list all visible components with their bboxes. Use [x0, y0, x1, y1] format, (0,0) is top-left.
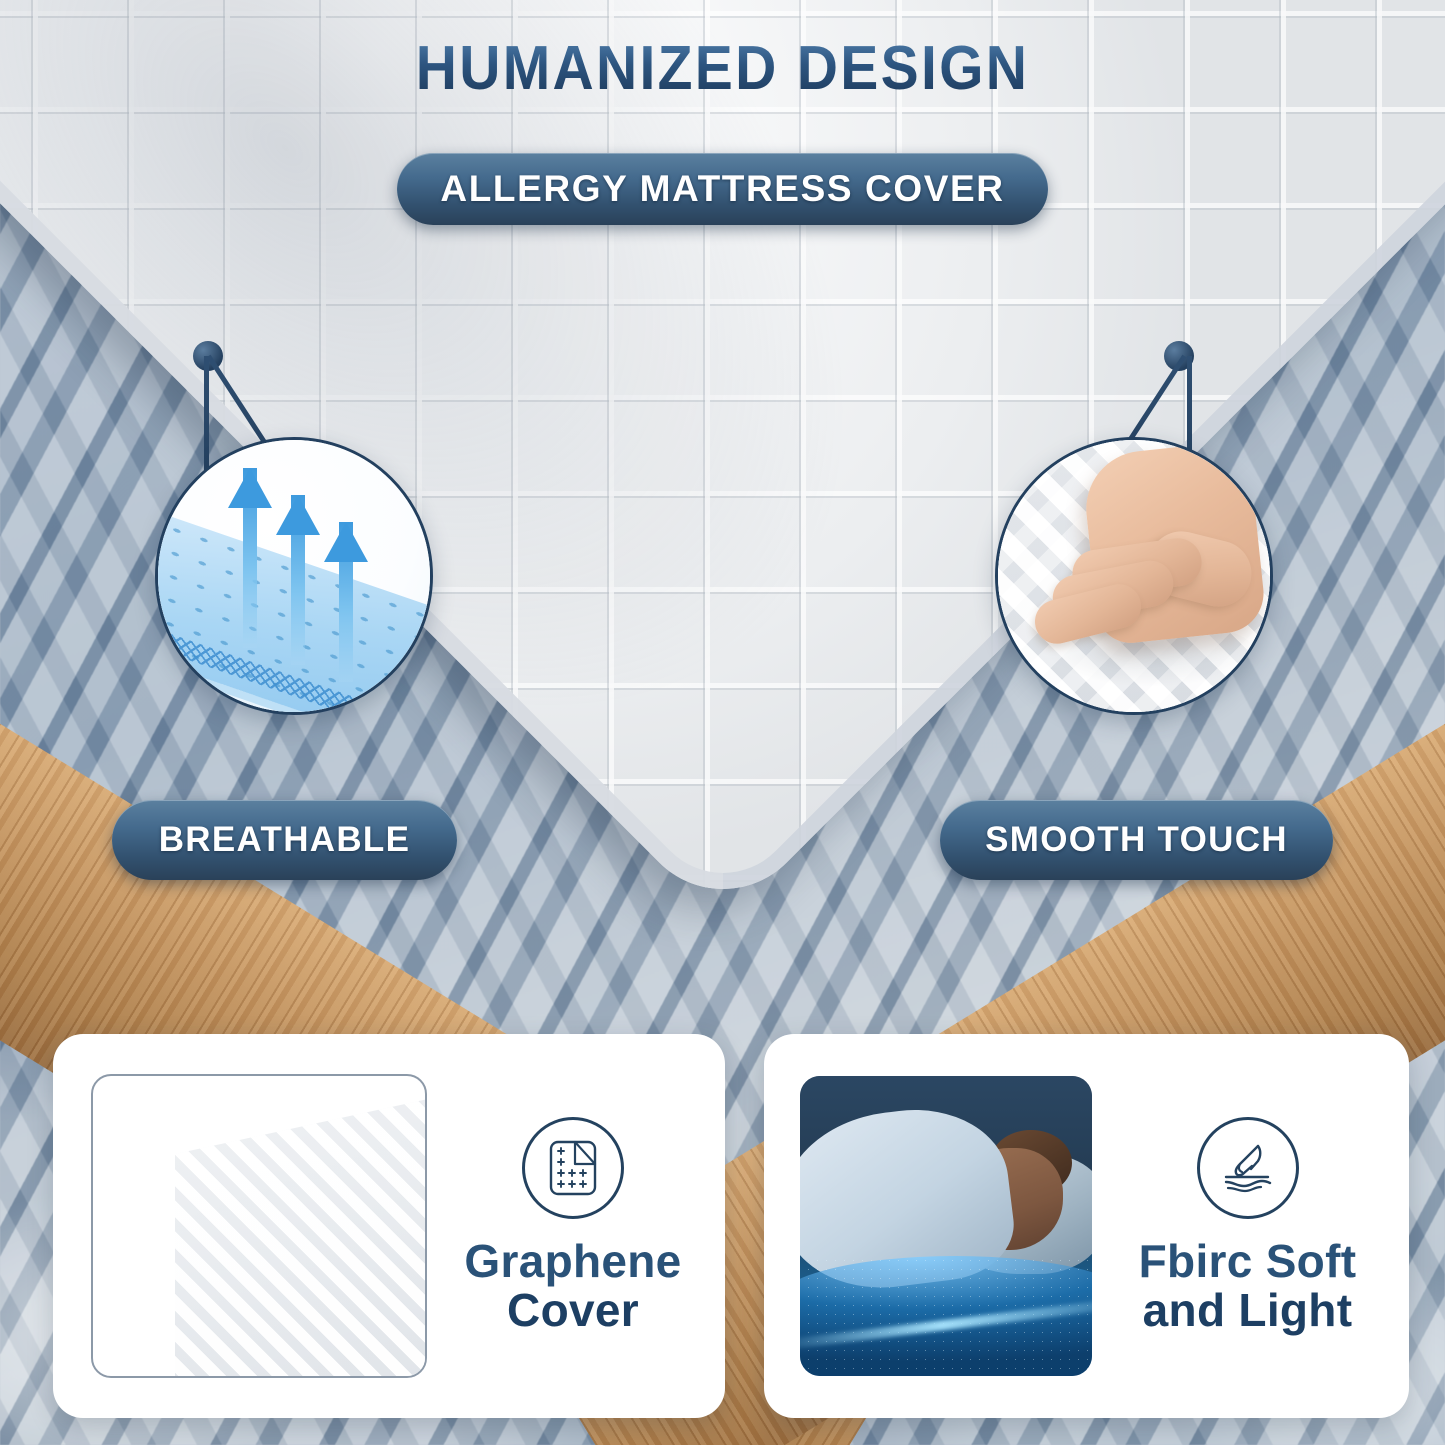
hand-touching-fabric-icon: [1197, 1117, 1299, 1219]
graphene-sheet-icon: [522, 1117, 624, 1219]
badge-smooth-touch[interactable]: SMOOTH TOUCH: [940, 800, 1333, 880]
cover-sheet-shape: [151, 1094, 427, 1378]
feature-card-graphene-cover[interactable]: Graphene Cover: [53, 1034, 725, 1418]
card-left-title-line1: Graphene: [464, 1235, 681, 1287]
card-left-title-line2: Cover: [464, 1286, 681, 1335]
feature-card-fabric-soft[interactable]: Fbirc Soft and Light: [764, 1034, 1409, 1418]
card-right-body: Fbirc Soft and Light: [1092, 1117, 1409, 1335]
card-right-title: Fbirc Soft and Light: [1139, 1237, 1357, 1335]
woman-sleeping-photo: [800, 1076, 1092, 1376]
page-title: HUMANIZED DESIGN: [58, 38, 1387, 100]
callout-smooth-touch[interactable]: [995, 437, 1273, 715]
card-right-title-line2: and Light: [1139, 1286, 1357, 1335]
airflow-arrow-icon: [276, 495, 320, 665]
airflow-arrow-icon: [324, 522, 368, 682]
callout-breathable[interactable]: [155, 437, 433, 715]
subtitle-badge[interactable]: ALLERGY MATTRESS COVER: [397, 153, 1048, 225]
mattress-cover-product-photo: [91, 1074, 427, 1378]
product-infographic: HUMANIZED DESIGN ALLERGY MATTRESS COVER: [0, 0, 1445, 1445]
badge-breathable[interactable]: BREATHABLE: [112, 800, 457, 880]
card-left-title: Graphene Cover: [464, 1237, 681, 1335]
airflow-arrow-icon: [228, 468, 272, 648]
card-right-title-line1: Fbirc Soft: [1139, 1235, 1357, 1287]
card-left-body: Graphene Cover: [427, 1117, 725, 1335]
